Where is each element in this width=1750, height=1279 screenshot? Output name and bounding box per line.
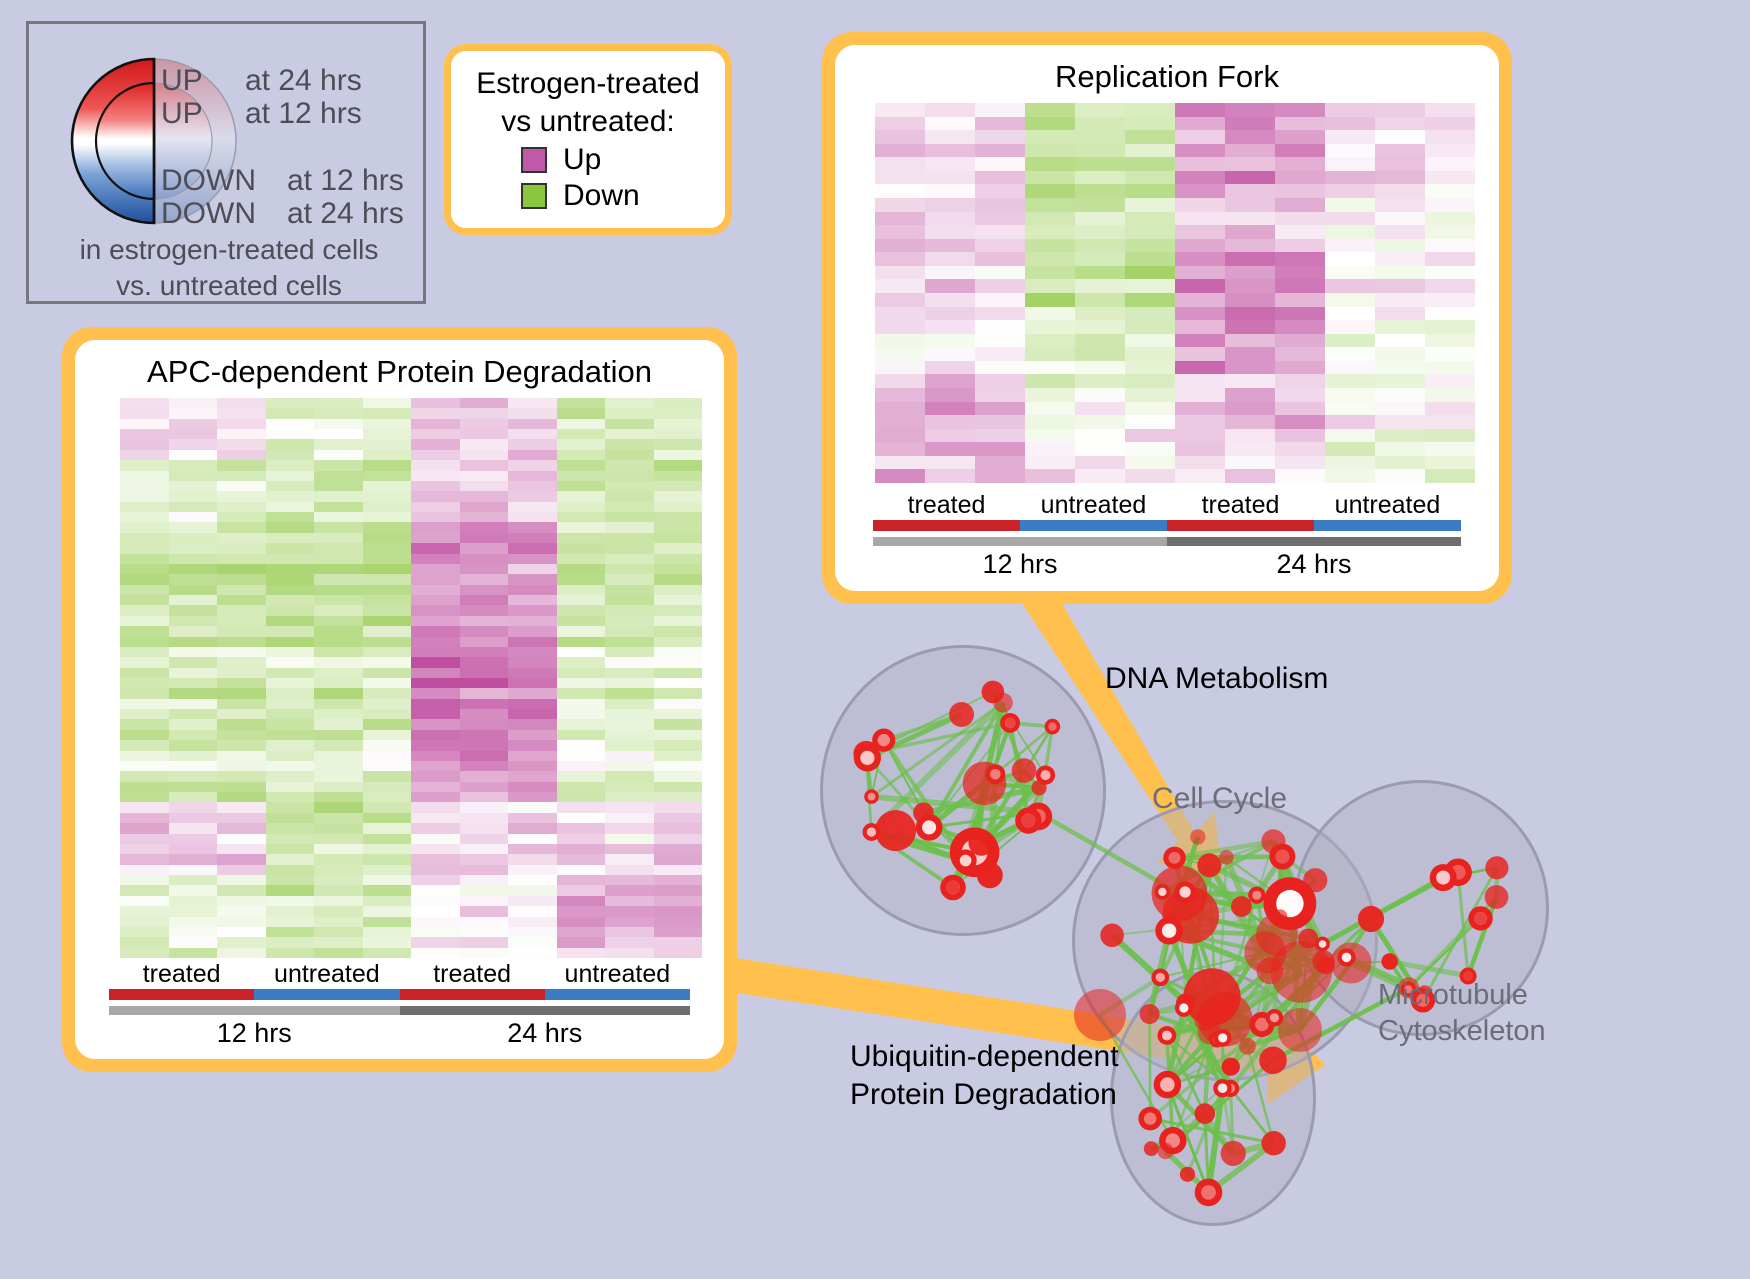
heatmap-cell bbox=[654, 699, 703, 709]
heatmap-cell bbox=[411, 823, 460, 833]
heatmap-cell bbox=[169, 543, 218, 553]
heatmap-cell bbox=[1125, 239, 1175, 253]
legend-item-down: Down bbox=[521, 179, 719, 213]
heatmap-cell bbox=[605, 782, 654, 792]
network-node-core bbox=[1252, 891, 1261, 900]
heatmap-cell bbox=[1125, 117, 1175, 131]
heatmap-cell bbox=[654, 647, 703, 657]
heatmap-cell bbox=[508, 439, 557, 449]
heatmap-cell bbox=[557, 730, 606, 740]
heatmap-cell bbox=[1275, 157, 1325, 171]
heatmap-cell bbox=[169, 605, 218, 615]
heatmap-cell bbox=[508, 937, 557, 947]
heatmap-cell bbox=[169, 875, 218, 885]
heatmap-cell bbox=[363, 647, 412, 657]
network-node-core bbox=[1144, 1113, 1156, 1125]
heatmap-cell bbox=[169, 668, 218, 678]
heatmap-cell bbox=[1025, 117, 1075, 131]
heatmap-cell bbox=[169, 699, 218, 709]
heatmap-cell bbox=[1025, 225, 1075, 239]
heatmap-cell bbox=[654, 554, 703, 564]
heatmap-cell bbox=[460, 408, 509, 418]
heatmap-cell bbox=[508, 906, 557, 916]
heatmap-cell bbox=[605, 429, 654, 439]
heatmap-cell bbox=[1175, 103, 1225, 117]
heatmap-cell bbox=[975, 184, 1025, 198]
heatmap-cell bbox=[508, 885, 557, 895]
heatmap-cell bbox=[508, 502, 557, 512]
heatmap-cell bbox=[169, 927, 218, 937]
heatmap-cell bbox=[120, 585, 169, 595]
heatmap-cell bbox=[508, 533, 557, 543]
heatmap-cell bbox=[120, 668, 169, 678]
heatmap-cell bbox=[1325, 279, 1375, 293]
heatmap-cell bbox=[975, 469, 1025, 483]
heatmap-cell bbox=[217, 450, 266, 460]
network-node bbox=[1485, 856, 1508, 879]
heatmap-cell bbox=[460, 875, 509, 885]
heatmap-cell bbox=[925, 239, 975, 253]
heatmap-cell bbox=[654, 740, 703, 750]
heatmap-cell bbox=[266, 782, 315, 792]
heatmap-cell bbox=[875, 388, 925, 402]
heatmap-cell bbox=[314, 802, 363, 812]
heatmap-cell bbox=[217, 554, 266, 564]
network-node-core bbox=[1158, 888, 1166, 896]
heatmap-cell bbox=[1025, 469, 1075, 483]
heatmap-cell bbox=[411, 398, 460, 408]
heatmap-cell bbox=[460, 823, 509, 833]
heatmap-cell bbox=[925, 347, 975, 361]
heatmap-cell bbox=[508, 823, 557, 833]
heatmap-cell bbox=[411, 637, 460, 647]
heatmap-cell bbox=[654, 917, 703, 927]
network-node bbox=[1144, 1141, 1159, 1156]
heatmap-cell bbox=[605, 948, 654, 958]
heatmap-cell bbox=[1225, 184, 1275, 198]
heatmap-cell bbox=[266, 574, 315, 584]
network-node bbox=[1100, 924, 1124, 948]
heatmap-cell bbox=[460, 605, 509, 615]
heatmap-cell bbox=[363, 937, 412, 947]
heatmap-cell bbox=[120, 533, 169, 543]
heatmap-cell bbox=[1275, 347, 1325, 361]
heatmap-cell bbox=[169, 834, 218, 844]
heatmap-cell bbox=[1275, 212, 1325, 226]
heatmap-cell bbox=[508, 813, 557, 823]
heatmap-cell bbox=[975, 130, 1025, 144]
heatmap-cell bbox=[925, 212, 975, 226]
heatmap-cell bbox=[460, 699, 509, 709]
heatmap-cell bbox=[508, 751, 557, 761]
heatmap-cell bbox=[1375, 266, 1425, 280]
heatmap-cell bbox=[1075, 157, 1125, 171]
heatmap-cell bbox=[169, 782, 218, 792]
key-time-up-24: at 24 hrs bbox=[245, 64, 362, 98]
heatmap-cell bbox=[508, 678, 557, 688]
network-node bbox=[993, 693, 1013, 713]
axis-group-bars-rf bbox=[873, 520, 1461, 531]
heatmap-cell bbox=[975, 402, 1025, 416]
heatmap-cell bbox=[654, 398, 703, 408]
heatmap-cell bbox=[1275, 293, 1325, 307]
heatmap-cell bbox=[557, 502, 606, 512]
heatmap-cell bbox=[266, 709, 315, 719]
heatmap-cell bbox=[654, 771, 703, 781]
heatmap-cell bbox=[508, 626, 557, 636]
heatmap-cell bbox=[1375, 144, 1425, 158]
network-node bbox=[1074, 989, 1126, 1041]
heatmap-cell bbox=[975, 239, 1025, 253]
heatmap-cell bbox=[266, 844, 315, 854]
heatmap-cell bbox=[975, 442, 1025, 456]
network-node-core bbox=[860, 751, 874, 765]
heatmap-cell bbox=[1225, 415, 1275, 429]
heatmap-cell bbox=[605, 709, 654, 719]
heatmap-cell bbox=[508, 875, 557, 885]
heatmap-cell bbox=[169, 657, 218, 667]
heatmap-cell bbox=[557, 699, 606, 709]
heatmap-cell bbox=[314, 823, 363, 833]
heatmap-cell bbox=[217, 948, 266, 958]
heatmap-cell bbox=[1025, 212, 1075, 226]
heatmap-cell bbox=[508, 927, 557, 937]
heatmap-cell bbox=[605, 730, 654, 740]
heatmap-cell bbox=[363, 533, 412, 543]
heatmap-cell bbox=[266, 605, 315, 615]
heatmap-cell bbox=[169, 719, 218, 729]
heatmap-cell bbox=[266, 875, 315, 885]
network-node-core bbox=[1474, 912, 1487, 925]
heatmap-cell bbox=[1175, 442, 1225, 456]
heatmap-cell bbox=[1375, 347, 1425, 361]
heatmap-cell bbox=[460, 491, 509, 501]
heatmap-cell bbox=[875, 279, 925, 293]
heatmap-cell bbox=[557, 865, 606, 875]
heatmap-cell bbox=[363, 637, 412, 647]
heatmap-cell bbox=[411, 408, 460, 418]
heatmap-cell bbox=[975, 374, 1025, 388]
heatmap-cell bbox=[1225, 429, 1275, 443]
heatmap-cell bbox=[411, 854, 460, 864]
heatmap-cell bbox=[508, 574, 557, 584]
heatmap-cell bbox=[875, 307, 925, 321]
heatmap-cell bbox=[1325, 157, 1375, 171]
heatmap-cell bbox=[654, 460, 703, 470]
heatmap-cell bbox=[217, 637, 266, 647]
heatmap-cell bbox=[411, 439, 460, 449]
heatmap-cell bbox=[1225, 239, 1275, 253]
heatmap-cell bbox=[1425, 307, 1475, 321]
heatmap-cell bbox=[1425, 212, 1475, 226]
heatmap-cell bbox=[654, 761, 703, 771]
heatmap-cell bbox=[460, 647, 509, 657]
heatmap-cell bbox=[1225, 252, 1275, 266]
heatmap-cell bbox=[605, 699, 654, 709]
heatmap-cell bbox=[1325, 103, 1375, 117]
heatmap-cell bbox=[314, 626, 363, 636]
heatmap-cell bbox=[217, 585, 266, 595]
network-node-core bbox=[1022, 814, 1036, 828]
heatmap-cell bbox=[508, 408, 557, 418]
time-bar-rf-24hrs bbox=[1167, 537, 1461, 546]
heatmap-cell bbox=[557, 481, 606, 491]
time-label-apc-24hrs: 24 hrs bbox=[400, 1018, 691, 1049]
heatmap-cell bbox=[217, 761, 266, 771]
heatmap-cell bbox=[217, 605, 266, 615]
heatmap-cell bbox=[508, 730, 557, 740]
heatmap-cell bbox=[169, 419, 218, 429]
cluster-label-microtubule-cytoskeleton: Microtubule Cytoskeleton bbox=[1378, 977, 1546, 1049]
heatmap-cell bbox=[266, 481, 315, 491]
heatmap-cell bbox=[557, 522, 606, 532]
heatmap-cell bbox=[1425, 117, 1475, 131]
heatmap-cell bbox=[1175, 266, 1225, 280]
heatmap-cell bbox=[557, 937, 606, 947]
heatmap-cell bbox=[925, 144, 975, 158]
heatmap-cell bbox=[1325, 456, 1375, 470]
heatmap-cell bbox=[120, 813, 169, 823]
heatmap-cell bbox=[217, 502, 266, 512]
heatmap-cell bbox=[654, 429, 703, 439]
heatmap-cell bbox=[169, 398, 218, 408]
heatmap-cell bbox=[605, 813, 654, 823]
heatmap-cell bbox=[557, 834, 606, 844]
heatmap-cell bbox=[1425, 320, 1475, 334]
heatmap-cell bbox=[1375, 130, 1425, 144]
heatmap-cell bbox=[314, 875, 363, 885]
heatmap-cell bbox=[1025, 239, 1075, 253]
heatmap-cell bbox=[557, 543, 606, 553]
heatmap-cell bbox=[169, 533, 218, 543]
heatmap-cell bbox=[363, 460, 412, 470]
heatmap-cell bbox=[1225, 374, 1275, 388]
heatmap-cell bbox=[266, 429, 315, 439]
heatmap-cell bbox=[1225, 402, 1275, 416]
heatmap-cell bbox=[1125, 347, 1175, 361]
heatmap-replication-fork bbox=[875, 103, 1475, 483]
heatmap-cell bbox=[508, 948, 557, 958]
heatmap-cell bbox=[875, 117, 925, 131]
heatmap-cell bbox=[605, 719, 654, 729]
heatmap-cell bbox=[1325, 184, 1375, 198]
heatmap-cell bbox=[314, 896, 363, 906]
heatmap-cell bbox=[314, 844, 363, 854]
key-time-down-24: at 24 hrs bbox=[287, 197, 404, 231]
heatmap-cell bbox=[1125, 171, 1175, 185]
heatmap-cell bbox=[925, 103, 975, 117]
heatmap-cell bbox=[169, 595, 218, 605]
heatmap-cell bbox=[975, 225, 1025, 239]
heatmap-cell bbox=[605, 802, 654, 812]
heatmap-cell bbox=[363, 419, 412, 429]
heatmap-cell bbox=[169, 512, 218, 522]
heatmap-cell bbox=[120, 605, 169, 615]
key-direction-up-12: UP bbox=[161, 97, 203, 131]
heatmap-cell bbox=[605, 688, 654, 698]
heatmap-cell bbox=[1025, 347, 1075, 361]
heatmap-cell bbox=[411, 502, 460, 512]
heatmap-cell bbox=[1425, 157, 1475, 171]
heatmap-cell bbox=[120, 751, 169, 761]
heatmap-cell bbox=[1175, 252, 1225, 266]
time-label-rf-12hrs: 12 hrs bbox=[873, 549, 1167, 580]
heatmap-cell bbox=[1075, 239, 1125, 253]
heatmap-cell bbox=[120, 439, 169, 449]
heatmap-cell bbox=[1175, 117, 1225, 131]
heatmap-cell bbox=[557, 491, 606, 501]
heatmap-cell bbox=[120, 460, 169, 470]
heatmap-cell bbox=[460, 439, 509, 449]
heatmap-cell bbox=[363, 948, 412, 958]
heatmap-cell bbox=[169, 491, 218, 501]
network-node bbox=[1358, 906, 1384, 932]
heatmap-cell bbox=[314, 865, 363, 875]
heatmap-cell bbox=[1175, 320, 1225, 334]
heatmap-cell bbox=[1325, 429, 1375, 443]
heatmap-cell bbox=[508, 481, 557, 491]
heatmap-cell bbox=[120, 719, 169, 729]
heatmap-cell bbox=[925, 266, 975, 280]
heatmap-cell bbox=[411, 865, 460, 875]
heatmap-cell bbox=[654, 896, 703, 906]
heatmap-cell bbox=[508, 834, 557, 844]
heatmap-cell bbox=[1325, 388, 1375, 402]
heatmap-cell bbox=[1325, 347, 1375, 361]
axis-time-bars-rf bbox=[873, 537, 1461, 546]
heatmap-cell bbox=[654, 937, 703, 947]
heatmap-cell bbox=[605, 823, 654, 833]
heatmap-cell bbox=[1425, 415, 1475, 429]
heatmap-cell bbox=[411, 792, 460, 802]
heatmap-cell bbox=[120, 896, 169, 906]
heatmap-cell bbox=[120, 429, 169, 439]
heatmap-cell bbox=[1325, 442, 1375, 456]
heatmap-cell bbox=[411, 834, 460, 844]
heatmap-cell bbox=[460, 771, 509, 781]
heatmap-cell bbox=[363, 429, 412, 439]
heatmap-cell bbox=[557, 782, 606, 792]
heatmap-cell bbox=[120, 398, 169, 408]
heatmap-cell bbox=[975, 266, 1025, 280]
heatmap-cell bbox=[120, 616, 169, 626]
heatmap-cell bbox=[217, 927, 266, 937]
heatmap-cell bbox=[1125, 184, 1175, 198]
heatmap-cell bbox=[120, 678, 169, 688]
heatmap-cell bbox=[557, 471, 606, 481]
heatmap-cell bbox=[411, 668, 460, 678]
heatmap-cell bbox=[1175, 279, 1225, 293]
heatmap-cell bbox=[1375, 198, 1425, 212]
heatmap-cell bbox=[314, 740, 363, 750]
heatmap-cell bbox=[654, 802, 703, 812]
heatmap-cell bbox=[411, 771, 460, 781]
heatmap-cell bbox=[363, 906, 412, 916]
heatmap-cell bbox=[1125, 198, 1175, 212]
heatmap-cell bbox=[217, 668, 266, 678]
heatmap-cell bbox=[217, 844, 266, 854]
network-graph bbox=[800, 600, 1750, 1279]
heatmap-cell bbox=[266, 917, 315, 927]
heatmap-cell bbox=[605, 834, 654, 844]
heatmap-cell bbox=[169, 637, 218, 647]
heatmap-cell bbox=[925, 361, 975, 375]
heatmap-cell bbox=[411, 450, 460, 460]
heatmap-cell bbox=[1325, 266, 1375, 280]
heatmap-cell bbox=[217, 709, 266, 719]
heatmap-cell bbox=[460, 574, 509, 584]
heatmap-cell bbox=[1325, 117, 1375, 131]
heatmap-cell bbox=[266, 502, 315, 512]
time-label-rf-24hrs: 24 hrs bbox=[1167, 549, 1461, 580]
heatmap-cell bbox=[363, 688, 412, 698]
network-node-core bbox=[1005, 718, 1015, 728]
panel-apc-dependent-protein-degradation: APC-dependent Protein Degradation treate… bbox=[62, 327, 737, 1072]
heatmap-cell bbox=[460, 668, 509, 678]
heatmap-cell bbox=[925, 415, 975, 429]
heatmap-cell bbox=[120, 802, 169, 812]
heatmap-cell bbox=[363, 616, 412, 626]
heatmap-cell bbox=[925, 320, 975, 334]
heatmap-cell bbox=[508, 564, 557, 574]
heatmap-cell bbox=[217, 854, 266, 864]
heatmap-cell bbox=[1175, 361, 1225, 375]
heatmap-cell bbox=[1225, 171, 1275, 185]
heatmap-cell bbox=[1425, 442, 1475, 456]
heatmap-cell bbox=[1325, 212, 1375, 226]
heatmap-cell bbox=[875, 103, 925, 117]
heatmap-cell bbox=[875, 320, 925, 334]
heatmap-cell bbox=[217, 740, 266, 750]
heatmap-cell bbox=[1425, 144, 1475, 158]
heatmap-cell bbox=[1425, 456, 1475, 470]
cluster-label-ubiquitin-line1: Ubiquitin-dependent bbox=[850, 1038, 1119, 1076]
heatmap-cell bbox=[1325, 252, 1375, 266]
heatmap-cell bbox=[1175, 225, 1225, 239]
heatmap-cell bbox=[508, 865, 557, 875]
heatmap-cell bbox=[1125, 442, 1175, 456]
heatmap-cell bbox=[314, 678, 363, 688]
heatmap-cell bbox=[266, 637, 315, 647]
expression-direction-key: UP at 24 hrs UP at 12 hrs DOWN at 12 hrs… bbox=[26, 21, 426, 304]
heatmap-cell bbox=[1375, 361, 1425, 375]
heatmap-cell bbox=[654, 585, 703, 595]
heatmap-cell bbox=[363, 885, 412, 895]
heatmap-cell bbox=[975, 347, 1025, 361]
heatmap-cell bbox=[411, 917, 460, 927]
heatmap-cell bbox=[217, 471, 266, 481]
heatmap-cell bbox=[314, 657, 363, 667]
heatmap-cell bbox=[363, 626, 412, 636]
heatmap-cell bbox=[654, 854, 703, 864]
heatmap-cell bbox=[266, 854, 315, 864]
heatmap-cell bbox=[169, 626, 218, 636]
heatmap-cell bbox=[120, 419, 169, 429]
heatmap-cell bbox=[217, 688, 266, 698]
heatmap-cell bbox=[605, 439, 654, 449]
heatmap-cell bbox=[1075, 103, 1125, 117]
heatmap-cell bbox=[508, 896, 557, 906]
heatmap-cell bbox=[314, 688, 363, 698]
group-bar-rf-treated-24 bbox=[1167, 520, 1314, 531]
heatmap-cell bbox=[169, 771, 218, 781]
heatmap-cell bbox=[411, 927, 460, 937]
network-node-core bbox=[922, 820, 936, 834]
heatmap-cell bbox=[411, 937, 460, 947]
heatmap-cell bbox=[1075, 171, 1125, 185]
heatmap-cell bbox=[1275, 198, 1325, 212]
heatmap-cell bbox=[1425, 388, 1475, 402]
